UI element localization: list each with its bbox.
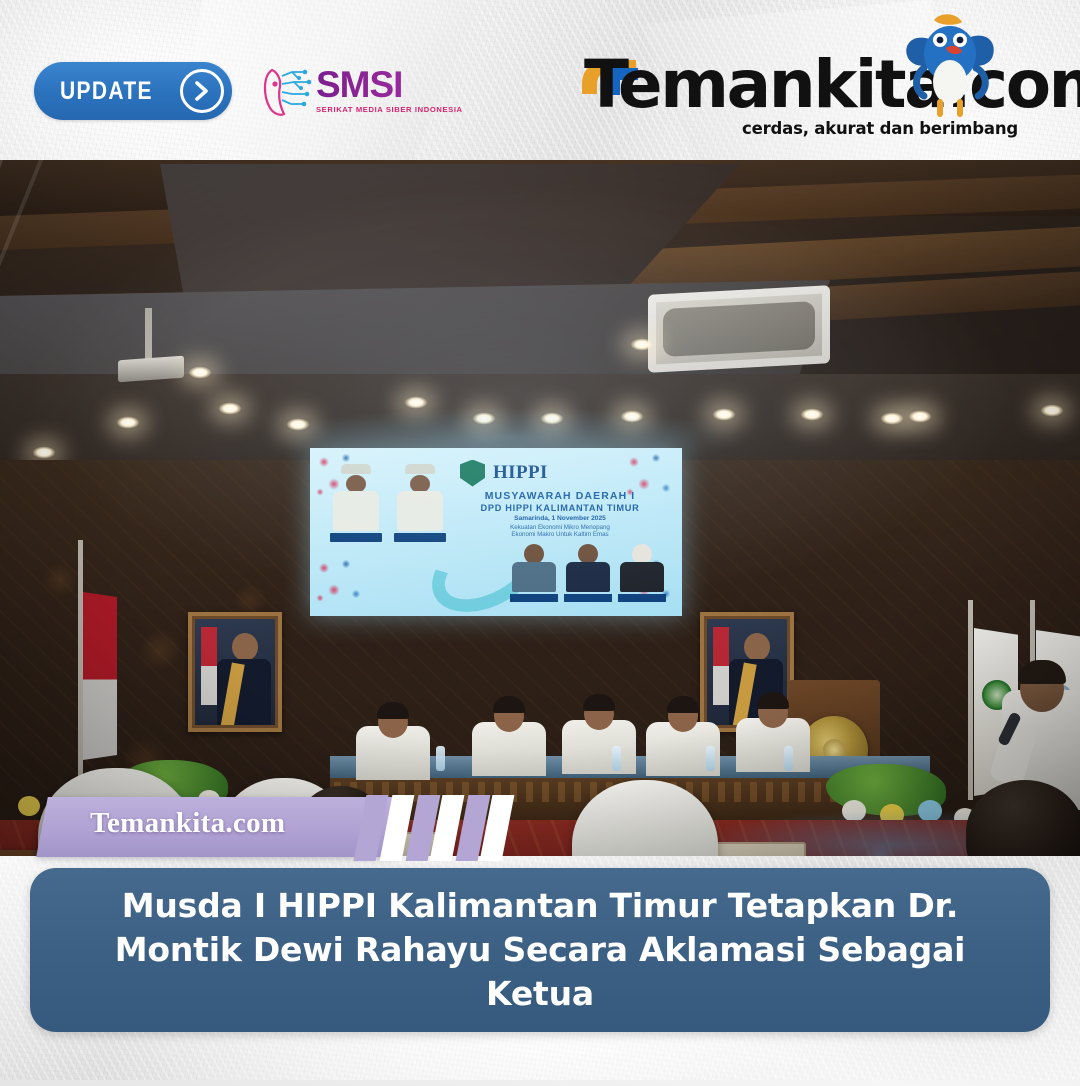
update-badge[interactable]: UPDATE	[34, 62, 232, 120]
smsi-tagline: SERIKAT MEDIA SIBER INDONESIA	[316, 105, 463, 114]
blue-bird-mascot-icon	[894, 10, 1004, 118]
smsi-wordmark: SMSI	[316, 68, 463, 103]
temankita-logo: Temankita.com cerdas, akurat dan berimba…	[584, 22, 1024, 142]
photo-vignette	[0, 160, 1080, 856]
chevron-right-icon	[180, 69, 224, 113]
event-photo: HIPPI MUSYAWARAH DAERAH I DPD HIPPI KALI…	[0, 160, 1080, 856]
headline-text: Musda I HIPPI Kalimantan Timur Tetapkan …	[74, 884, 1006, 1017]
update-badge-label: UPDATE	[60, 77, 153, 106]
temankita-tagline: cerdas, akurat dan berimbang	[742, 119, 1018, 138]
circuit-eagle-icon	[258, 62, 314, 120]
smsi-logo: SMSI SERIKAT MEDIA SIBER INDONESIA	[258, 58, 428, 124]
headline-box: Musda I HIPPI Kalimantan Timur Tetapkan …	[30, 868, 1050, 1032]
temankita-wordmark: Temankita.com	[584, 52, 1080, 118]
watermark-label: Temankita.com	[90, 807, 285, 840]
header-bar: UPDATE SMSI SERIKAT MEDIA SIBER INDON	[0, 0, 1080, 160]
